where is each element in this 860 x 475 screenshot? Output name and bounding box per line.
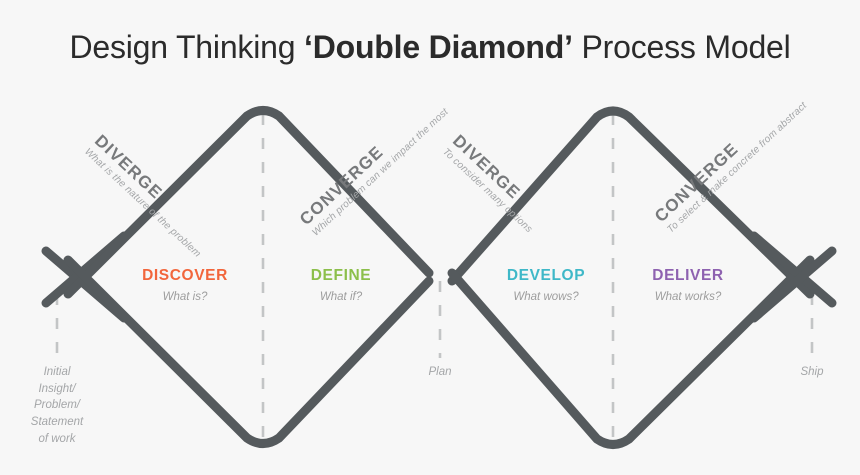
milestone-initial-insight: InitialInsight/Problem/Statementof work — [7, 364, 107, 447]
phase-name: DISCOVER — [105, 268, 265, 284]
phase-question: What if? — [261, 292, 421, 304]
phase-label-deliver[interactable]: DELIVER What works? — [608, 268, 768, 303]
milestone-plan: Plan — [390, 364, 490, 381]
phase-name: DEFINE — [261, 268, 421, 284]
phase-label-develop[interactable]: DEVELOP What wows? — [466, 268, 626, 303]
double-diamond-graphic — [0, 0, 860, 475]
diagram-canvas: Design Thinking ‘Double Diamond’ Process… — [0, 0, 860, 475]
phase-question: What wows? — [466, 292, 626, 304]
phase-label-discover[interactable]: DISCOVER What is? — [105, 268, 265, 303]
phase-name: DELIVER — [608, 268, 768, 284]
phase-name: DEVELOP — [466, 268, 626, 284]
phase-question: What works? — [608, 292, 768, 304]
phase-question: What is? — [105, 292, 265, 304]
diamond-one-top — [68, 111, 429, 295]
milestone-ship: Ship — [762, 364, 860, 381]
phase-label-define[interactable]: DEFINE What if? — [261, 268, 421, 303]
